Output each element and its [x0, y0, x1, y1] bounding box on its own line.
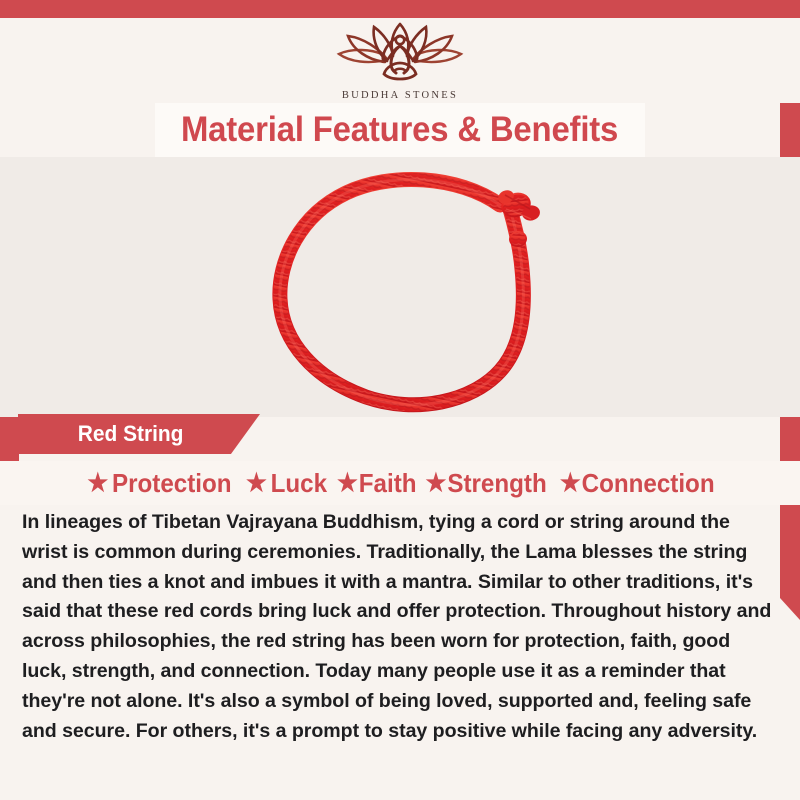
star-icon: ★ [560, 471, 581, 496]
star-icon: ★ [246, 471, 267, 496]
benefit-label: Luck [270, 468, 326, 499]
product-image-panel [0, 157, 800, 417]
star-icon: ★ [337, 471, 358, 496]
section-ribbon: Red String [18, 414, 260, 454]
benefit-label: Faith [359, 468, 417, 499]
benefit-item-luck: ★ Luck [246, 468, 327, 499]
benefit-item-connection: ★ Connection [560, 468, 715, 499]
benefit-label: Strength [448, 468, 547, 499]
page-title-box: Material Features & Benefits [155, 103, 645, 157]
brand-name: BUDDHA STONES [342, 90, 458, 101]
description-text: In lineages of Tibetan Vajrayana Buddhis… [22, 508, 778, 746]
section-ribbon-label: Red String [78, 421, 184, 447]
page-title: Material Features & Benefits [181, 110, 618, 150]
brand-header: BUDDHA STONES [0, 18, 800, 103]
star-icon: ★ [426, 471, 447, 496]
benefit-item-protection: ★ Protection [87, 468, 231, 499]
benefit-label: Protection [112, 468, 232, 499]
brand-logo: BUDDHA STONES [0, 18, 800, 103]
lotus-meditation-icon [324, 18, 476, 89]
benefit-item-strength: ★ Strength [426, 468, 547, 499]
benefit-item-faith: ★ Faith [337, 468, 417, 499]
infographic-page: BUDDHA STONES Material Features & Benefi… [0, 0, 800, 800]
star-icon: ★ [87, 471, 108, 496]
decorative-top-bar [0, 0, 800, 18]
benefit-label: Connection [581, 468, 714, 499]
red-braided-cord-bracelet-icon [200, 157, 600, 422]
benefits-row: ★ Protection ★ Luck ★ Faith ★ Strength ★… [0, 461, 800, 505]
